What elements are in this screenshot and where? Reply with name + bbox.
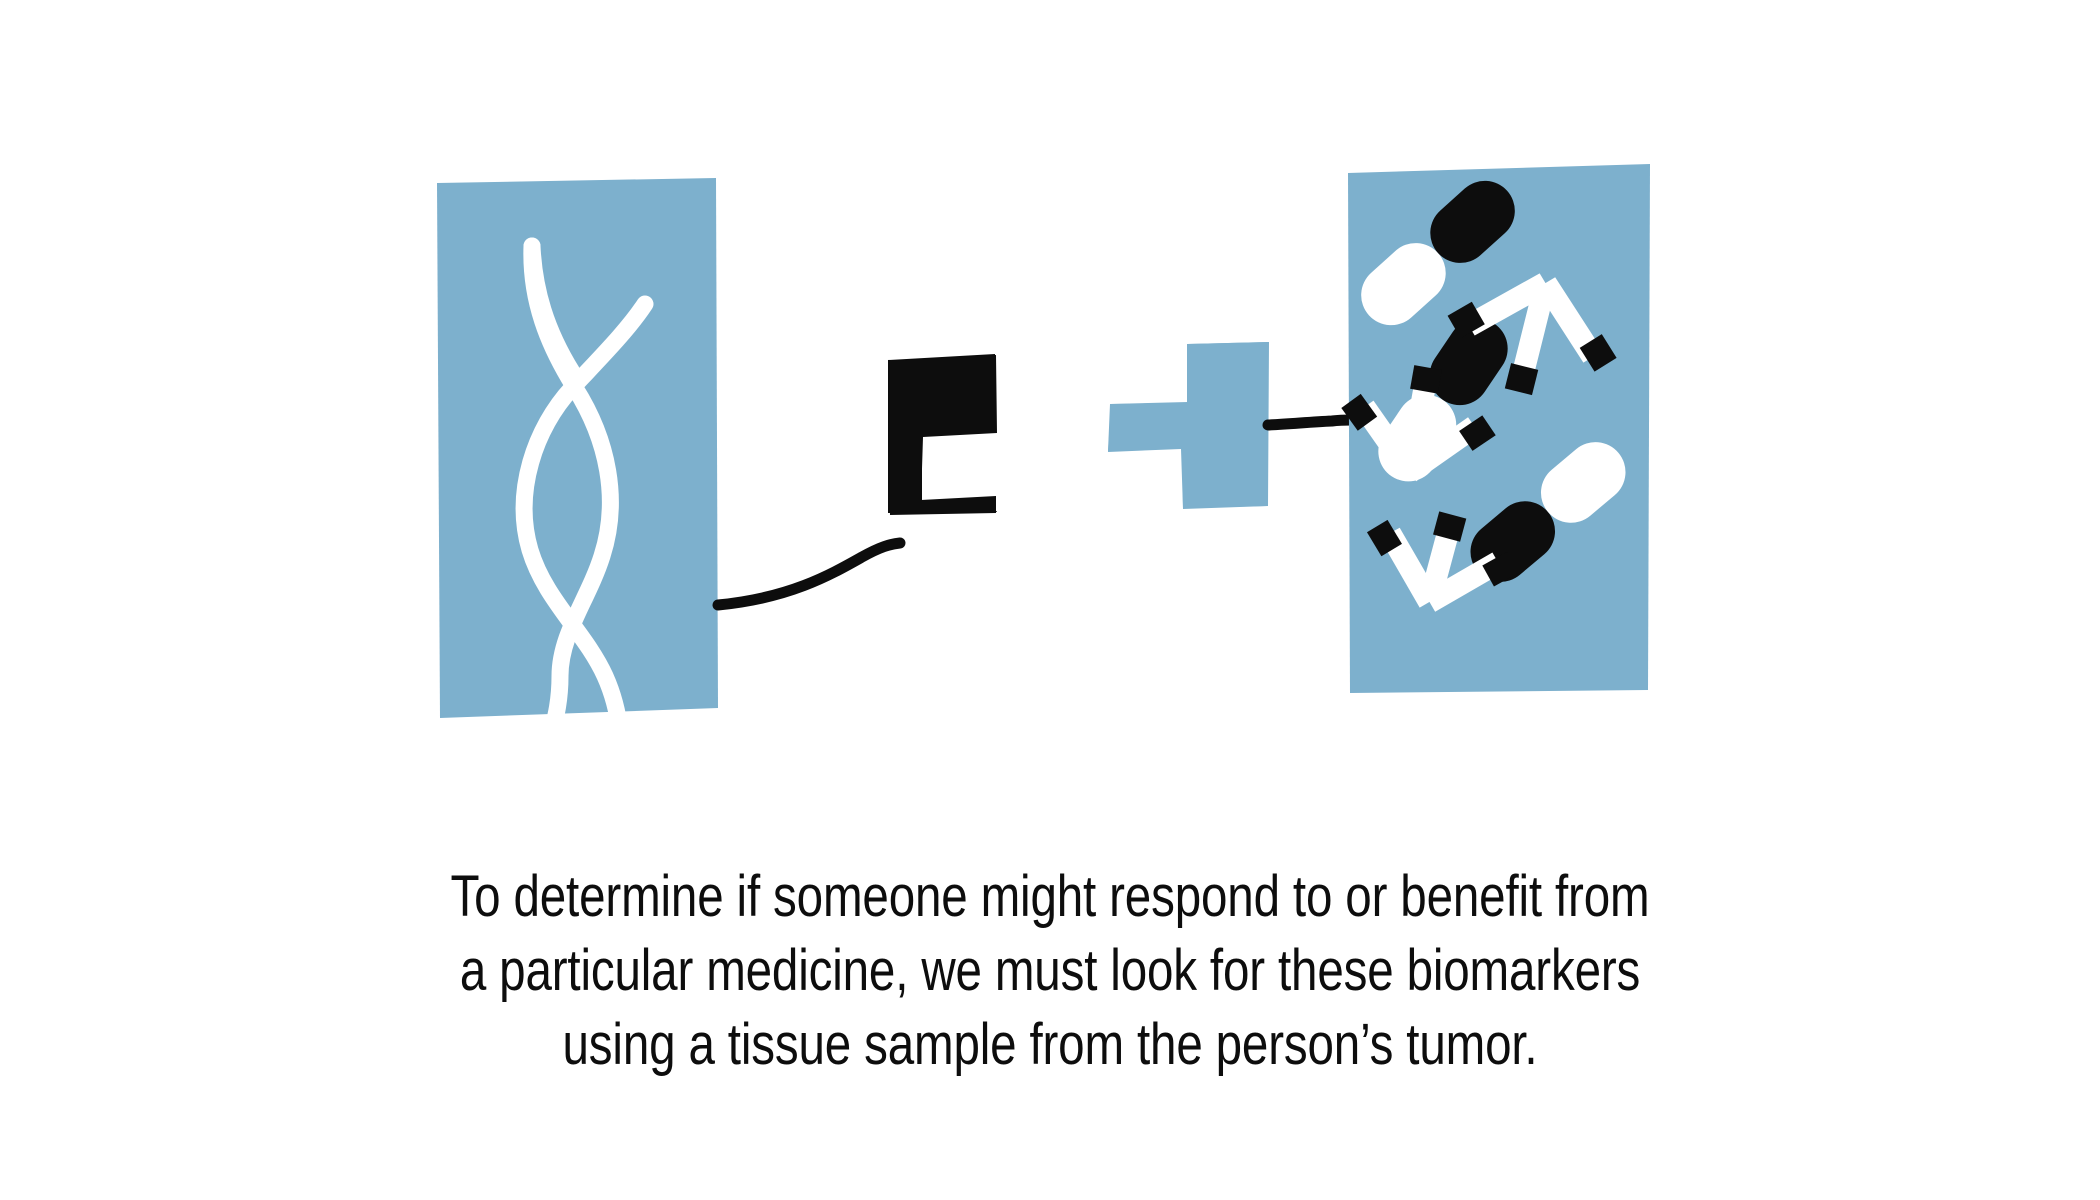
puzzle-piece-black-shape <box>888 355 997 515</box>
connector-line-left <box>718 543 900 605</box>
medicine-panel-group <box>1331 164 1650 693</box>
antibody-tip-center <box>1410 365 1442 393</box>
caption-line-3: using a tissue sample from the person’s … <box>189 1008 1911 1082</box>
dna-panel-group <box>437 178 718 732</box>
connector-line-right <box>1268 420 1352 425</box>
illustration-slide: To determine if someone might respond to… <box>0 0 2100 1200</box>
caption-line-2: a particular medicine, we must look for … <box>189 934 1911 1008</box>
puzzle-piece-blue-shape <box>1108 342 1269 509</box>
caption-line-1: To determine if someone might respond to… <box>189 860 1911 934</box>
caption-block: To determine if someone might respond to… <box>0 860 2100 1082</box>
